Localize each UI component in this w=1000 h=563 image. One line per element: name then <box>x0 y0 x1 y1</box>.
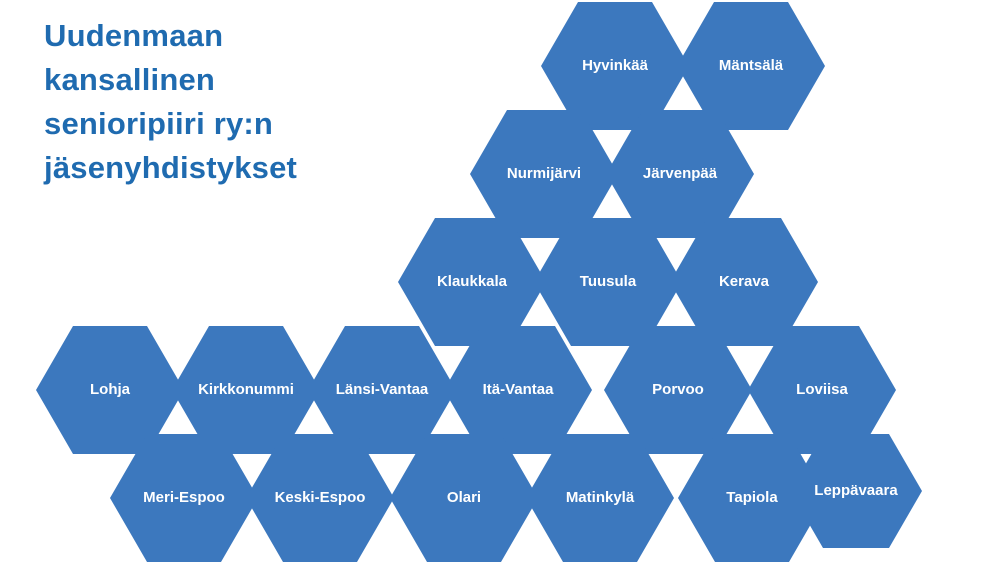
hexagon-label: Järvenpää <box>639 166 721 183</box>
diagram-canvas: Uudenmaan kansallinen senioripiiri ry:n … <box>0 0 1000 563</box>
hexagon-label: Leppävaara <box>810 483 901 500</box>
hexagon-label: Tapiola <box>722 490 781 507</box>
hexagon-label: Tuusula <box>576 274 640 291</box>
hexagon-label: Lohja <box>86 382 134 399</box>
hexagon-label: Meri-Espoo <box>139 490 229 507</box>
hexagon-label: Nurmijärvi <box>503 166 585 183</box>
hexagon-label: Länsi-Vantaa <box>332 382 433 399</box>
page-title: Uudenmaan kansallinen senioripiiri ry:n … <box>44 14 424 190</box>
hexagon-label: Loviisa <box>792 382 852 399</box>
hexagon-label: Porvoo <box>648 382 708 399</box>
hexagon-label: Itä-Vantaa <box>479 382 558 399</box>
hexagon-label: Olari <box>443 490 485 507</box>
hexagon-label: Kirkkonummi <box>194 382 298 399</box>
hexagon-label: Matinkylä <box>562 490 638 507</box>
hexagon-label: Klaukkala <box>433 274 511 291</box>
hexagon-label: Mäntsälä <box>715 58 787 75</box>
hexagon-label: Keski-Espoo <box>271 490 370 507</box>
hexagon-label: Hyvinkää <box>578 58 652 75</box>
hexagon-label: Kerava <box>715 274 773 291</box>
